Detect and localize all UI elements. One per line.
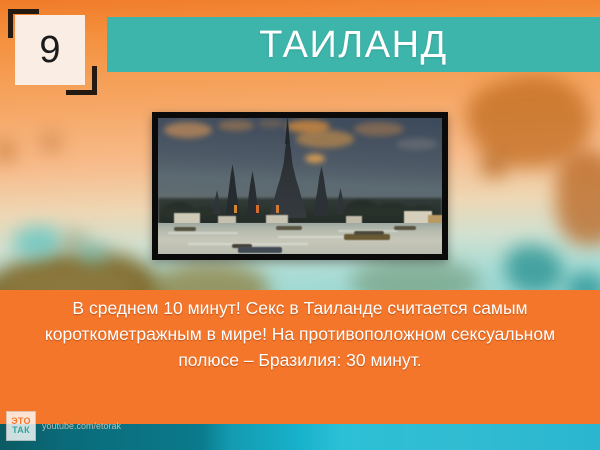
cloud (258, 119, 284, 128)
flag (256, 205, 259, 213)
slide-number-badge: 9 (8, 8, 100, 96)
cloud (296, 130, 354, 148)
cloud (354, 122, 404, 136)
slide-number-value: 9 (39, 31, 60, 69)
flag (276, 205, 279, 213)
page-title: ТАИЛАНД (259, 26, 448, 64)
background-blob (481, 152, 507, 178)
background-blob (556, 150, 600, 245)
cloud (164, 122, 212, 138)
boat (174, 227, 196, 231)
channel-logo-line-2: ТАК (12, 426, 30, 435)
channel-watermark[interactable]: ЭТО ТАК youtube.com/etorak (6, 411, 121, 441)
boat (354, 231, 384, 235)
boat (238, 247, 282, 253)
boat (276, 226, 302, 230)
slide-number-box: 9 (15, 15, 85, 85)
temple-spire (224, 164, 241, 216)
background-blob (78, 244, 108, 262)
temple-photo (158, 118, 442, 254)
channel-logo-icon: ЭТО ТАК (6, 411, 36, 441)
cloud (305, 154, 325, 163)
cloud (218, 120, 254, 131)
temple-main-prang (266, 136, 310, 218)
photo-frame (152, 112, 448, 260)
title-bar: ТАИЛАНД (107, 17, 600, 72)
channel-url: youtube.com/etorak (42, 421, 121, 431)
boat (394, 226, 416, 230)
slide-root: ТАИЛАНД 9 (0, 0, 600, 450)
cloud (396, 138, 438, 150)
water-highlight (168, 232, 238, 234)
caption-band: В среднем 10 минут! Секс в Таиланде счит… (0, 290, 600, 424)
background-blob (40, 132, 62, 152)
temple-spire (312, 166, 331, 216)
flag (234, 205, 237, 213)
caption-text: В среднем 10 минут! Секс в Таиланде счит… (30, 295, 570, 373)
